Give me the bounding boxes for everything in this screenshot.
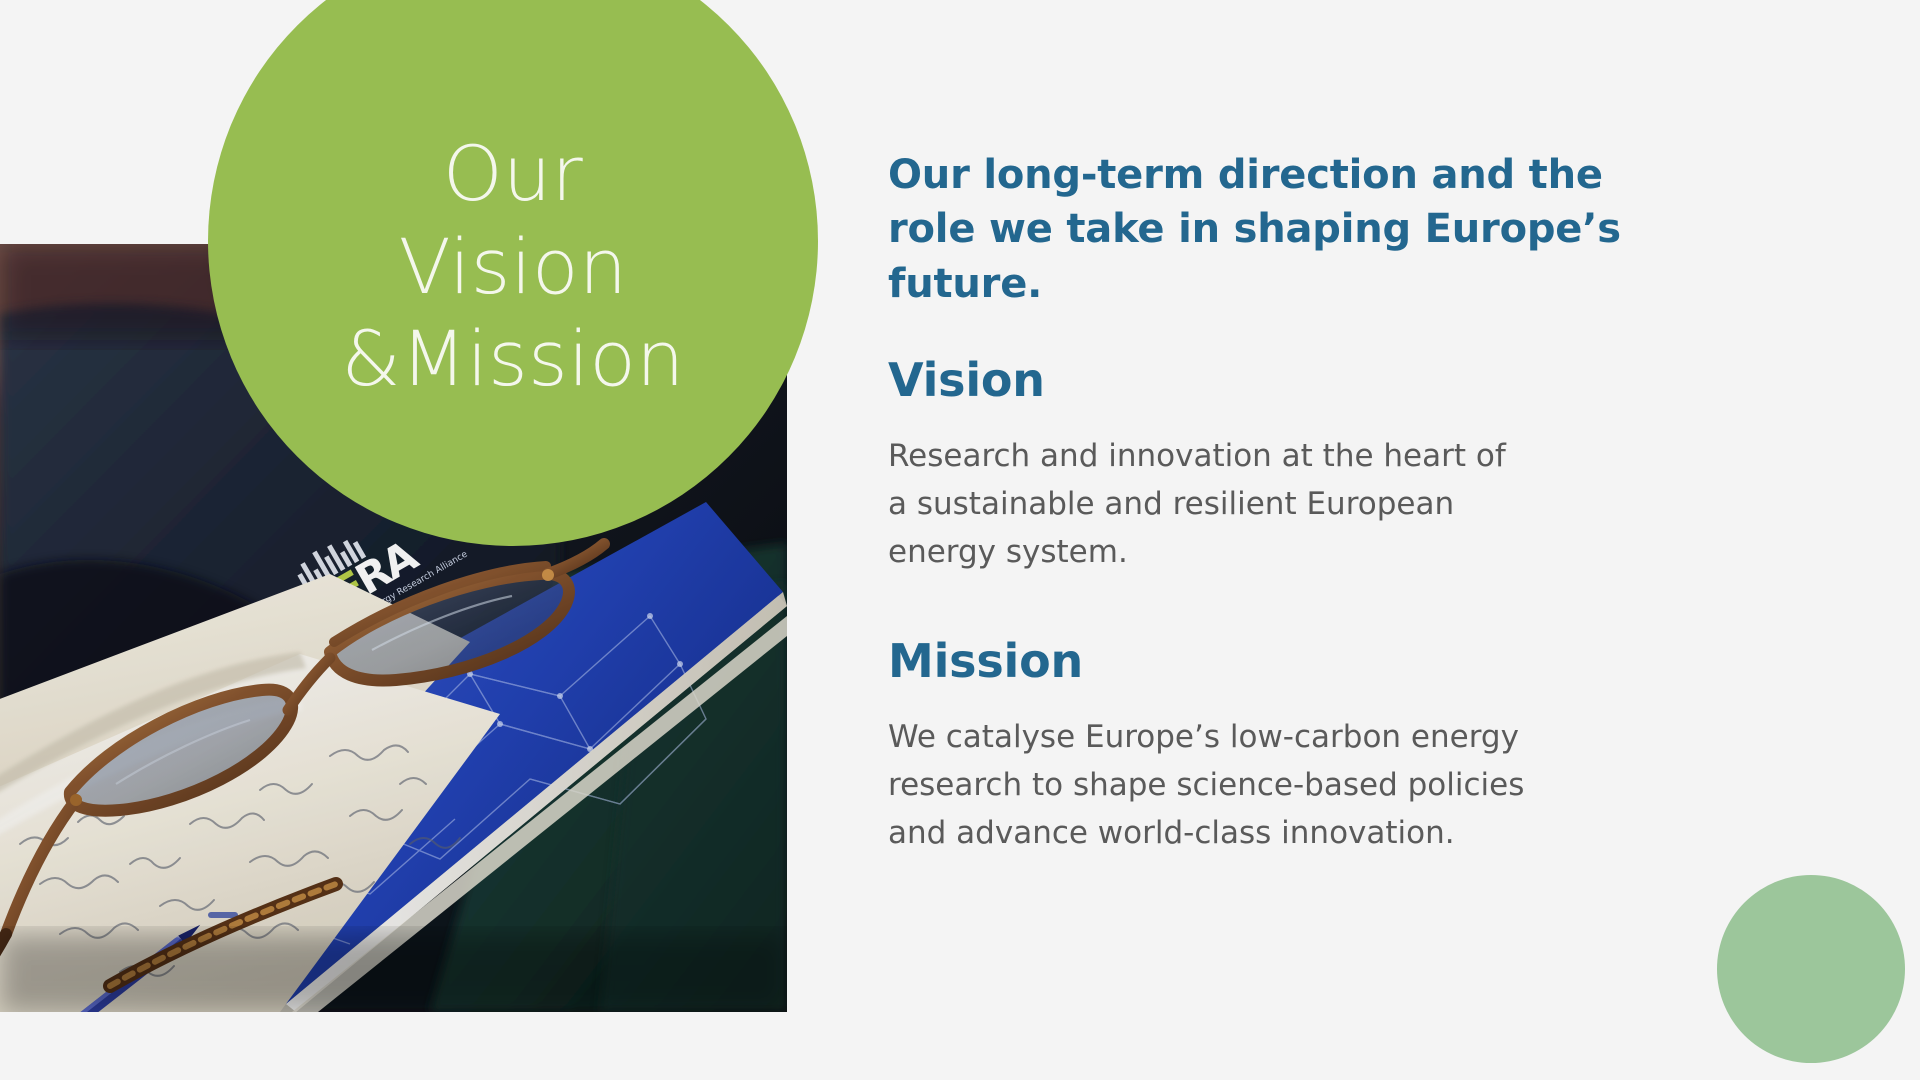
lead-statement: Our long-term direction and the role we … [888,148,1648,311]
hero-title-line-3: &Mission [341,313,684,406]
accent-dot-decoration [1717,875,1905,1063]
hero-title-line-2: Vision [399,221,628,314]
content-column: Our long-term direction and the role we … [888,148,1678,857]
vision-heading: Vision [888,355,1678,406]
mission-body: We catalyse Europe’s low-carbon energy r… [888,713,1528,857]
mission-block: Mission We catalyse Europe’s low-carbon … [888,636,1678,857]
hero-title-line-1: Our [443,128,583,221]
vision-block: Vision Research and innovation at the he… [888,355,1678,576]
vision-body: Research and innovation at the heart of … [888,432,1528,576]
mission-heading: Mission [888,636,1678,687]
slide-canvas: E E R A European Energy Research Allianc… [0,0,1920,1080]
